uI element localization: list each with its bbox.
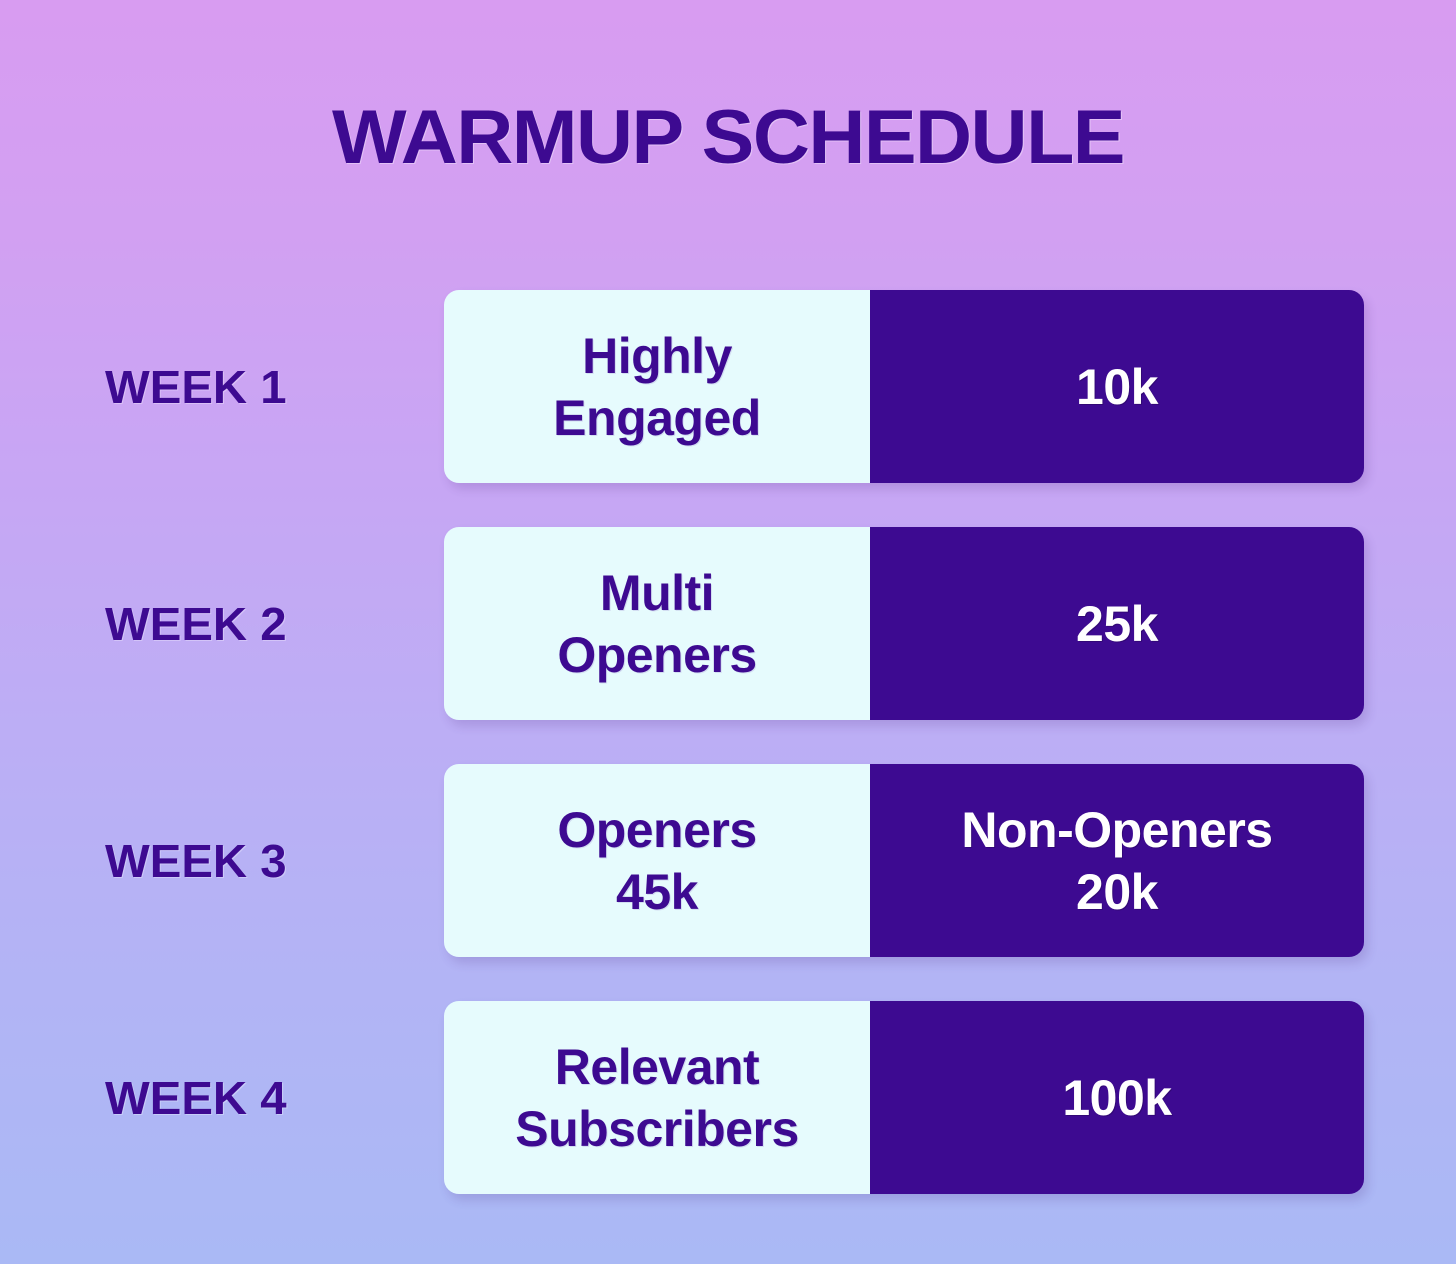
segment-panel: Highly Engaged (444, 290, 870, 483)
segment-line-1: Relevant (555, 1036, 759, 1098)
segment-panel: Multi Openers (444, 527, 870, 720)
segment-line-1: Multi (600, 562, 714, 624)
schedule-row: WEEK 2 Multi Openers 25k (0, 527, 1456, 720)
week-card: Highly Engaged 10k (444, 290, 1364, 483)
segment-line-1: Openers (557, 799, 756, 861)
week-label: WEEK 3 (105, 764, 445, 957)
volume-panel: 25k (870, 527, 1364, 720)
segment-panel: Relevant Subscribers (444, 1001, 870, 1194)
week-label: WEEK 2 (105, 527, 445, 720)
week-card: Openers 45k Non-Openers 20k (444, 764, 1364, 957)
segment-panel: Openers 45k (444, 764, 870, 957)
segment-line-2: Openers (557, 624, 756, 686)
segment-line-2: Subscribers (515, 1098, 799, 1160)
page-title: WARMUP SCHEDULE (0, 97, 1456, 179)
segment-line-1: Highly (582, 325, 732, 387)
volume-line-1: 25k (1076, 593, 1158, 655)
week-label: WEEK 1 (105, 290, 445, 483)
week-label: WEEK 4 (105, 1001, 445, 1194)
segment-line-2: 45k (616, 861, 698, 923)
schedule-rows: WEEK 1 Highly Engaged 10k WEEK 2 Multi O… (0, 290, 1456, 1194)
schedule-row: WEEK 1 Highly Engaged 10k (0, 290, 1456, 483)
volume-panel: 10k (870, 290, 1364, 483)
volume-line-1: Non-Openers (961, 799, 1272, 861)
volume-line-1: 100k (1062, 1067, 1171, 1129)
warmup-schedule-poster: WARMUP SCHEDULE WEEK 1 Highly Engaged 10… (0, 0, 1456, 1264)
week-card: Relevant Subscribers 100k (444, 1001, 1364, 1194)
schedule-row: WEEK 3 Openers 45k Non-Openers 20k (0, 764, 1456, 957)
week-card: Multi Openers 25k (444, 527, 1364, 720)
volume-line-2: 20k (1076, 861, 1158, 923)
segment-line-2: Engaged (553, 387, 761, 449)
volume-panel: Non-Openers 20k (870, 764, 1364, 957)
volume-panel: 100k (870, 1001, 1364, 1194)
volume-line-1: 10k (1076, 356, 1158, 418)
schedule-row: WEEK 4 Relevant Subscribers 100k (0, 1001, 1456, 1194)
